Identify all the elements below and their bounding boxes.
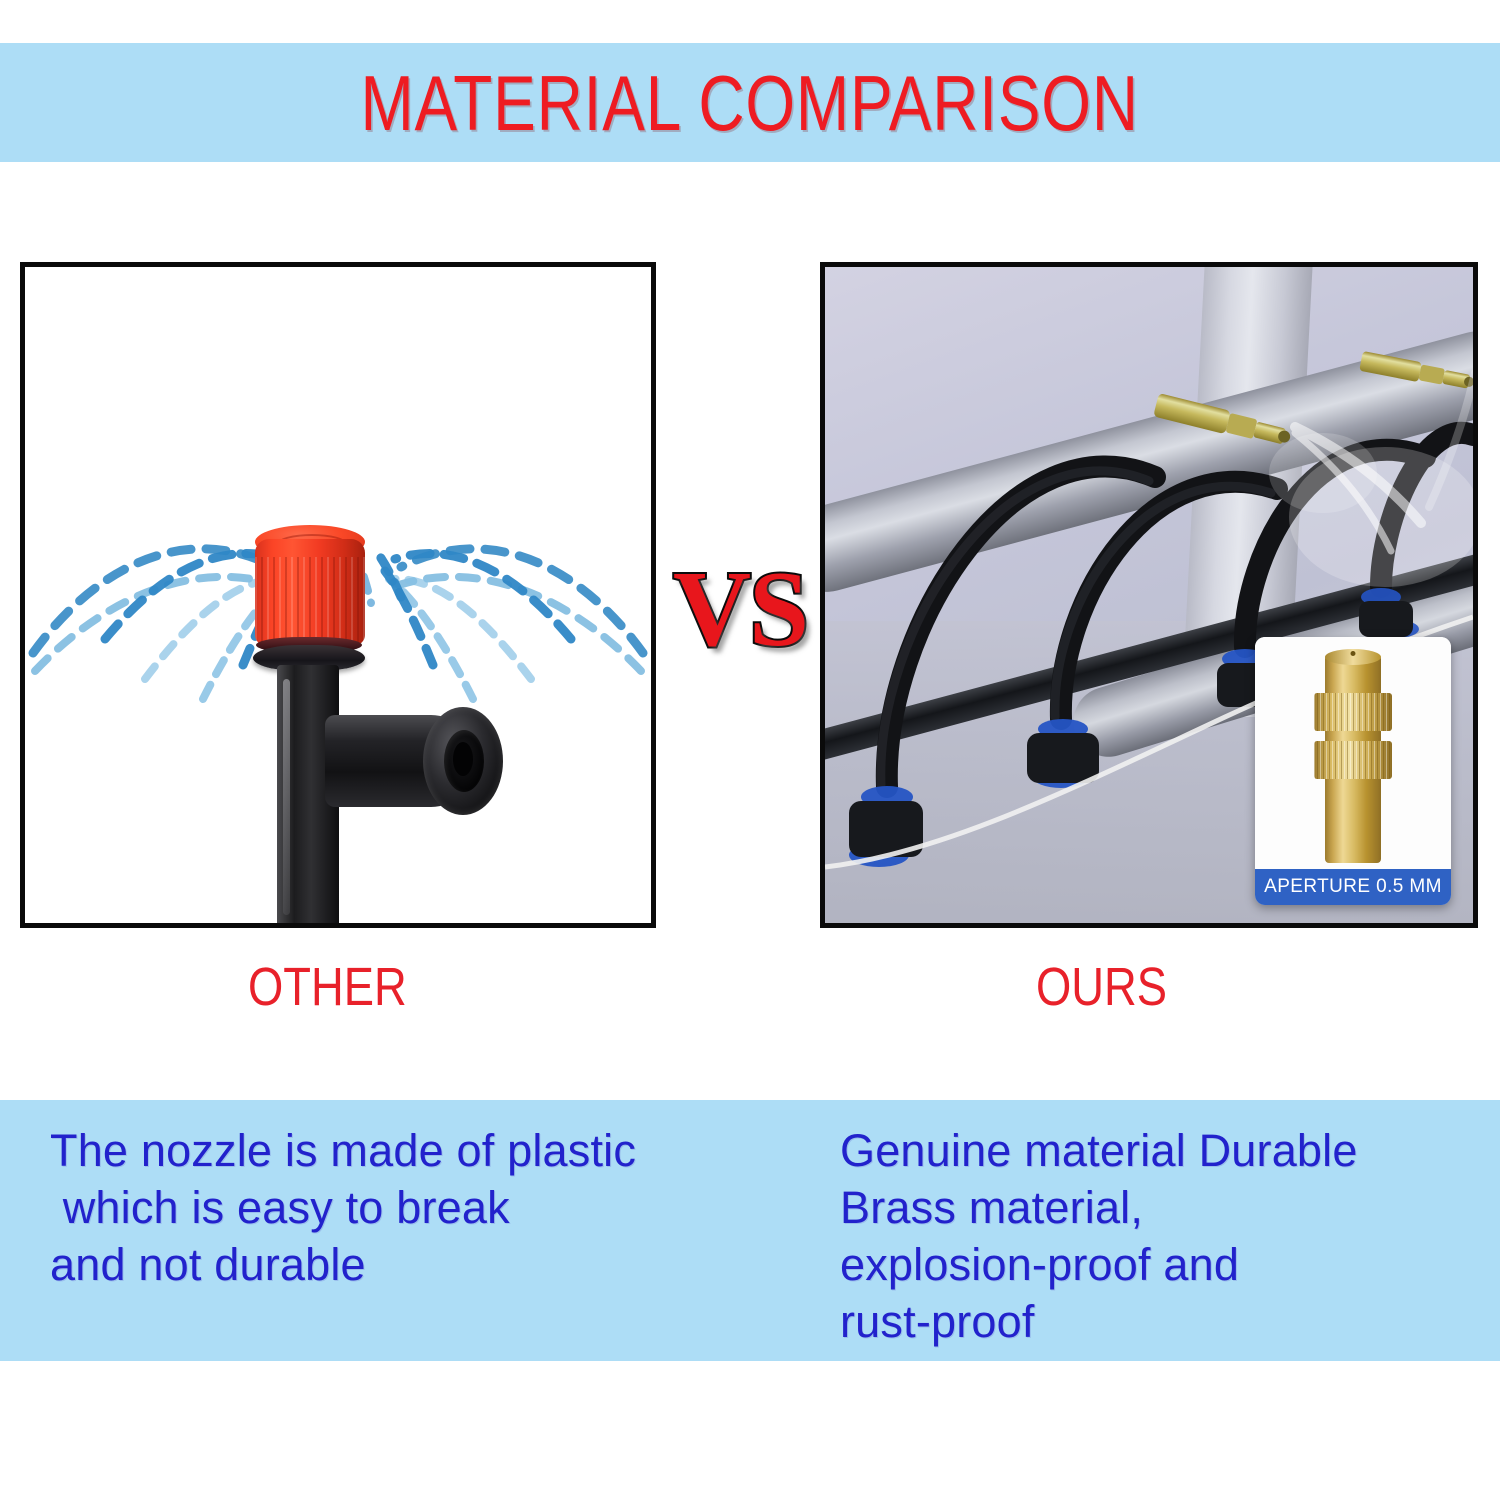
page-title: MATERIAL COMPARISON <box>361 64 1139 142</box>
caption-other: OTHER <box>248 960 407 1014</box>
brass-knurl-lower <box>1314 741 1392 779</box>
vs-label: VS <box>673 556 807 664</box>
aperture-label: APERTURE 0.5 MM <box>1255 869 1451 905</box>
panel-other <box>20 262 656 928</box>
inset-product-card: APERTURE 0.5 MM <box>1255 637 1451 905</box>
misting-system-image: APERTURE 0.5 MM <box>825 267 1473 923</box>
panel-ours: APERTURE 0.5 MM <box>820 262 1478 928</box>
brass-aperture-hole <box>1351 651 1356 656</box>
description-banner: The nozzle is made of plastic which is e… <box>0 1100 1500 1361</box>
vs-badge: VS <box>660 545 820 675</box>
nozzle-elbow-port <box>444 730 484 792</box>
title-banner: MATERIAL COMPARISON <box>0 43 1500 162</box>
brass-knurl-upper <box>1314 693 1392 731</box>
cap-ribs <box>255 557 365 645</box>
brass-nozzle-closeup <box>1255 637 1451 869</box>
nozzle-red-cap <box>255 539 365 645</box>
caption-ours: OURS <box>1036 960 1167 1014</box>
description-other: The nozzle is made of plastic which is e… <box>50 1122 636 1293</box>
panel-captions: OTHER OURS <box>0 960 1500 1050</box>
description-ours: Genuine material Durable Brass material,… <box>840 1122 1358 1351</box>
plastic-sprinkler-image <box>25 267 651 923</box>
